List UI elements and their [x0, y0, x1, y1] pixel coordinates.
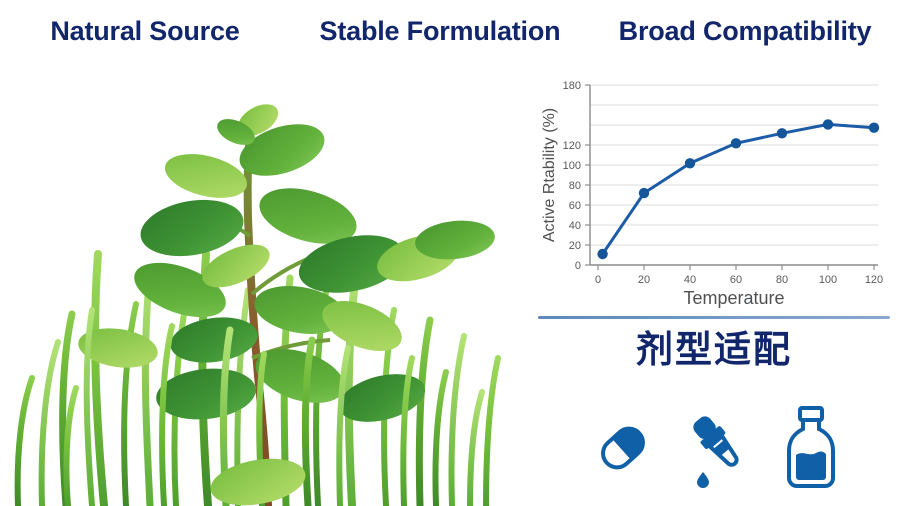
active-rtability-chart: 0 20 40 60 80 100 120 180 0 20 40 60 80 … — [528, 58, 900, 308]
x-tick-120: 120 — [865, 274, 883, 286]
x-tick-20: 20 — [638, 274, 650, 286]
data-point-6 — [869, 123, 879, 133]
data-point-3 — [731, 138, 741, 148]
y-tick-20: 20 — [569, 240, 581, 252]
bottle-icon — [781, 405, 841, 491]
heading-row: Natural Source Stable Formulation Broad … — [0, 0, 900, 62]
chart-x-axis-label: Temperature — [683, 288, 784, 308]
section-divider — [538, 316, 890, 319]
chart-y-axis-label: Active Rtability (%) — [541, 108, 558, 242]
heading-broad-compatibility: Broad Compatibility — [619, 16, 872, 46]
y-tick-60: 60 — [569, 200, 581, 212]
heading-stable-formulation: Stable Formulation — [320, 16, 561, 46]
y-tick-180: 180 — [563, 80, 581, 92]
x-tick-80: 80 — [776, 274, 788, 286]
dropper-icon — [683, 408, 757, 488]
data-point-4 — [777, 128, 787, 138]
data-point-2 — [685, 158, 695, 168]
heading-slot-3: Broad Compatibility — [590, 18, 900, 45]
y-tick-80: 80 — [569, 180, 581, 192]
heading-slot-2: Stable Formulation — [290, 18, 590, 45]
slide-canvas: Natural Source Stable Formulation Broad … — [0, 0, 900, 506]
bottle-liquid-icon — [796, 451, 826, 480]
plant-photo-panel — [0, 58, 528, 506]
x-tick-40: 40 — [684, 274, 696, 286]
y-tick-40: 40 — [569, 220, 581, 232]
data-point-1 — [639, 188, 649, 198]
dosage-icon-row — [528, 394, 900, 502]
heading-slot-1: Natural Source — [0, 18, 290, 45]
data-point-5 — [823, 119, 833, 129]
data-point-0 — [597, 249, 607, 259]
x-tick-100: 100 — [819, 274, 837, 286]
y-tick-120: 120 — [563, 140, 581, 152]
y-tick-100: 100 — [563, 160, 581, 172]
capsule-icon — [587, 412, 659, 484]
heading-natural-source: Natural Source — [50, 16, 239, 46]
dosage-form-title: 剂型适配 — [528, 330, 900, 371]
plant-photograph — [0, 58, 528, 506]
dropper-droplet-icon — [697, 472, 709, 488]
x-tick-60: 60 — [730, 274, 742, 286]
y-tick-0: 0 — [575, 260, 581, 272]
x-tick-0: 0 — [595, 274, 601, 286]
right-column: 0 20 40 60 80 100 120 180 0 20 40 60 80 … — [528, 58, 900, 506]
